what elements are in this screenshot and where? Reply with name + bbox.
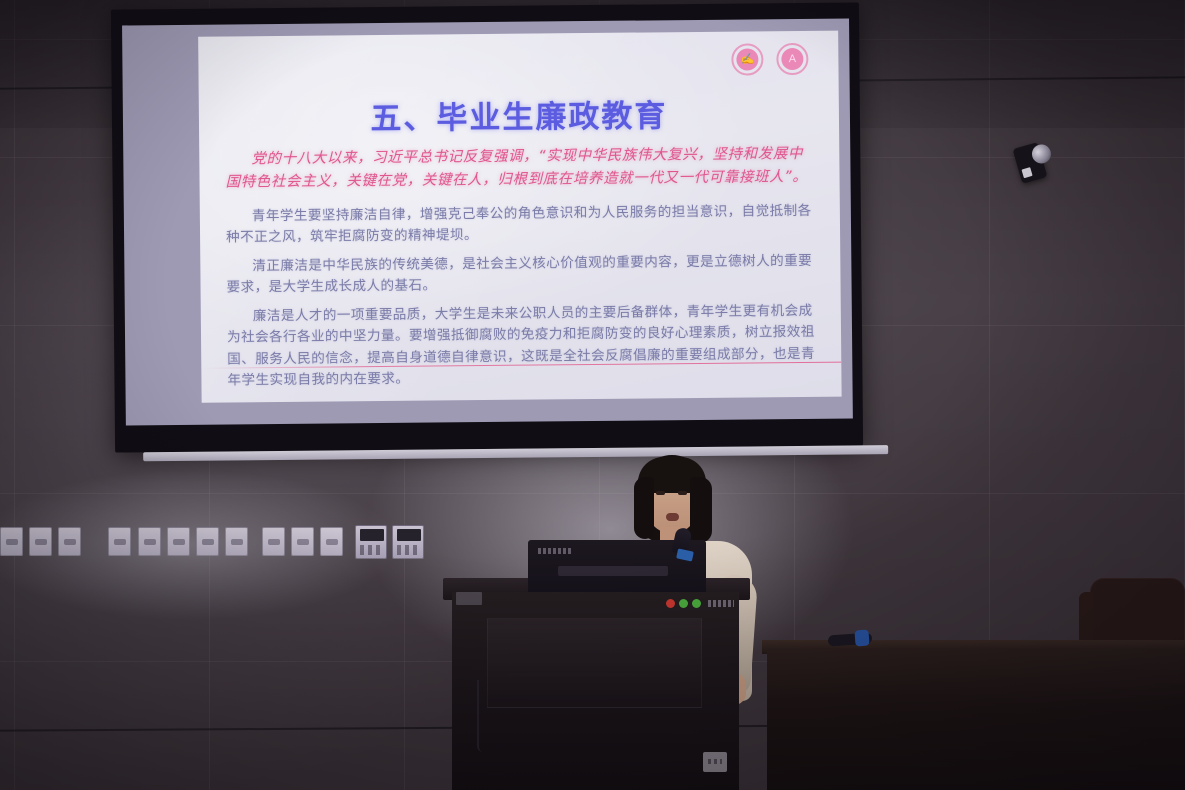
slide-title: 五、毕业生廉政教育 — [199, 89, 839, 140]
wall-switch[interactable] — [29, 527, 52, 556]
podium-led-green-2 — [692, 599, 701, 608]
camera-body-tag — [1021, 167, 1032, 178]
chair-armrest — [1079, 592, 1093, 644]
presentation-slide: ✍ A 五、毕业生廉政教育 党的十八大以来，习近平总书记反复强调，“实现中华民族… — [198, 31, 841, 403]
wall-switch-row — [0, 527, 350, 561]
slide-paragraph-2: 清正廉洁是中华民族的传统美德，是社会主义核心价值观的重要内容，更是立德树人的重要… — [226, 251, 818, 300]
presidium-table — [767, 648, 1185, 790]
wall-switch[interactable] — [0, 527, 23, 556]
slide-paragraph-3: 廉洁是人才的一项重要品质，大学生是未来公职人员的主要后备群体，青年学生更有机会成… — [227, 301, 820, 393]
slide-body: 党的十八大以来，习近平总书记反复强调，“实现中华民族伟大复兴，坚持和发展中国特色… — [225, 143, 819, 399]
wall-switch[interactable] — [138, 527, 161, 556]
presenter-eye-right — [678, 491, 687, 495]
room-control-panel[interactable] — [392, 525, 424, 559]
presenter-mouth — [666, 513, 679, 521]
podium-control-label — [708, 600, 734, 607]
wall-switch[interactable] — [58, 527, 81, 556]
institution-emblem-left-icon: ✍ — [731, 43, 763, 75]
projection-screen-frame: ✍ A 五、毕业生廉政教育 党的十八大以来，习近平总书记反复强调，“实现中华民族… — [111, 2, 863, 452]
emblem-left-glyph: ✍ — [736, 48, 758, 70]
lecture-hall-scene: ✍ A 五、毕业生廉政教育 党的十八大以来，习近平总书记反复强调，“实现中华民族… — [0, 0, 1185, 790]
wall-power-outlet[interactable] — [703, 752, 727, 772]
wall-switch[interactable] — [225, 527, 248, 556]
wall-switch[interactable] — [196, 527, 219, 556]
table-microphone-band — [854, 630, 869, 647]
institution-emblem-right-icon: A — [776, 43, 808, 75]
wall-switch[interactable] — [291, 527, 314, 556]
podium-side-label — [456, 592, 482, 605]
wall-switch[interactable] — [262, 527, 285, 556]
slide-paragraph-1: 青年学生要坚持廉洁自律，增强克己奉公的角色意识和为人民服务的担当意识，自觉抵制各… — [226, 201, 818, 250]
presenter-hair-left — [634, 477, 654, 539]
room-control-panel[interactable] — [355, 525, 387, 559]
lenovo-brand-logo-icon — [538, 548, 572, 554]
projection-screen-surface: ✍ A 五、毕业生廉政教育 党的十八大以来，习近平总书记反复强调，“实现中华民族… — [122, 19, 853, 426]
emblem-right-glyph: A — [781, 48, 803, 70]
presenter-hair-right — [690, 477, 712, 543]
podium-led-green-1 — [679, 599, 688, 608]
podium-led-red — [666, 599, 675, 608]
wall-switch[interactable] — [167, 527, 190, 556]
slide-logo-group: ✍ A — [731, 43, 808, 76]
podium-cable — [477, 680, 483, 752]
presenter-eye-left — [656, 491, 665, 495]
wall-switch[interactable] — [108, 527, 131, 556]
wall-switch[interactable] — [320, 527, 343, 556]
podium-front-panel — [487, 618, 702, 708]
podium-led-indicators — [666, 599, 701, 608]
slide-quote: 党的十八大以来，习近平总书记反复强调，“实现中华民族伟大复兴，坚持和发展中国特色… — [225, 143, 817, 196]
monitor-screen-slot — [558, 566, 668, 576]
